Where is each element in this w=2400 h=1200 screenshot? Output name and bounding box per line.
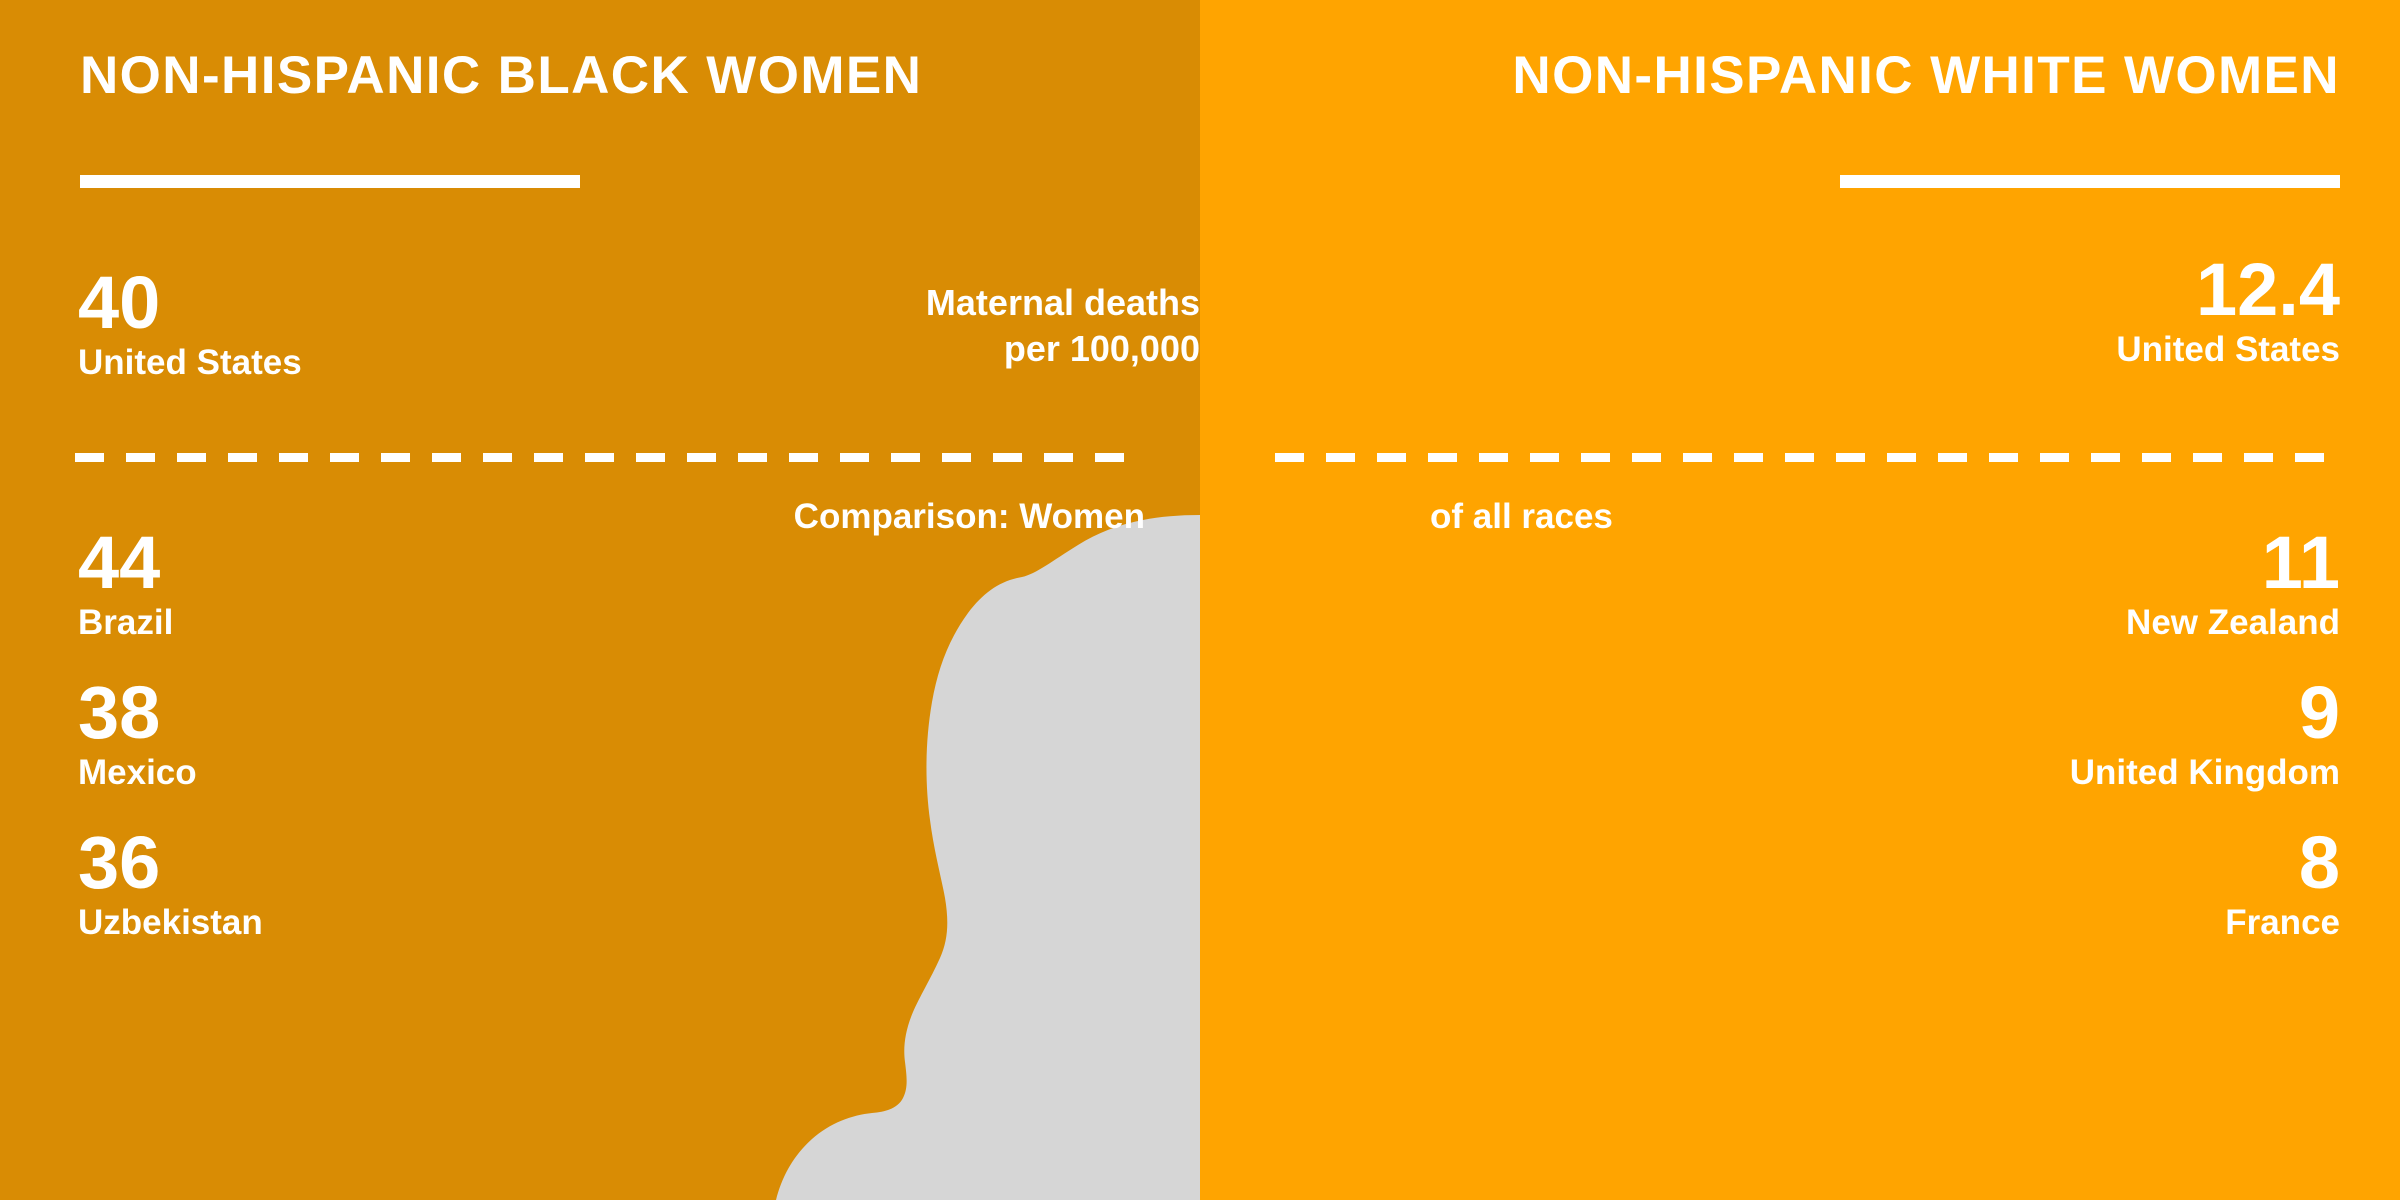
left-panel: NON-HISPANIC BLACK WOMEN 40 United State… [0,0,1200,1200]
right-stat-label: New Zealand [1280,604,2340,643]
left-dashed-separator [75,453,1125,462]
left-stat-brazil: 44 Brazil [78,528,1138,643]
left-stat-label: Brazil [78,604,1138,643]
infographic-canvas: NON-HISPANIC BLACK WOMEN 40 United State… [0,0,2400,1200]
unit-caption-line-1: Maternal deaths [640,280,1200,326]
right-title-underline [1840,175,2340,188]
right-stat-new-zealand: 11 New Zealand [1280,528,2340,643]
left-stat-value: 36 [78,828,1138,898]
left-title-underline [80,175,580,188]
right-stat-label: United Kingdom [1280,754,2340,793]
right-panel: NON-HISPANIC WHITE WOMEN 12.4 United Sta… [1200,0,2400,1200]
comparison-caption-right: of all races [1430,497,1930,537]
unit-caption: Maternal deaths per 100,000 [640,280,1200,372]
right-panel-title: NON-HISPANIC WHITE WOMEN [1512,48,2340,104]
left-stat-label: Mexico [78,754,1138,793]
right-stat-france: 8 France [1280,828,2340,943]
unit-caption-line-2: per 100,000 [640,326,1200,372]
right-stat-value: 11 [1280,528,2340,598]
right-stat-united-kingdom: 9 United Kingdom [1280,678,2340,793]
left-stat-value: 38 [78,678,1138,748]
right-stat-label: France [1280,904,2340,943]
right-dashed-separator [1275,453,2325,462]
right-stat-united-states: 12.4 United States [1280,255,2340,370]
right-stat-value: 12.4 [1280,255,2340,325]
left-stat-mexico: 38 Mexico [78,678,1138,793]
right-stat-value: 8 [1280,828,2340,898]
comparison-caption-left: Comparison: Women [0,497,1145,537]
right-stat-label: United States [1280,331,2340,370]
left-stat-value: 44 [78,528,1138,598]
left-stat-label: Uzbekistan [78,904,1138,943]
left-panel-title: NON-HISPANIC BLACK WOMEN [80,48,922,104]
right-stat-value: 9 [1280,678,2340,748]
left-stat-uzbekistan: 36 Uzbekistan [78,828,1138,943]
